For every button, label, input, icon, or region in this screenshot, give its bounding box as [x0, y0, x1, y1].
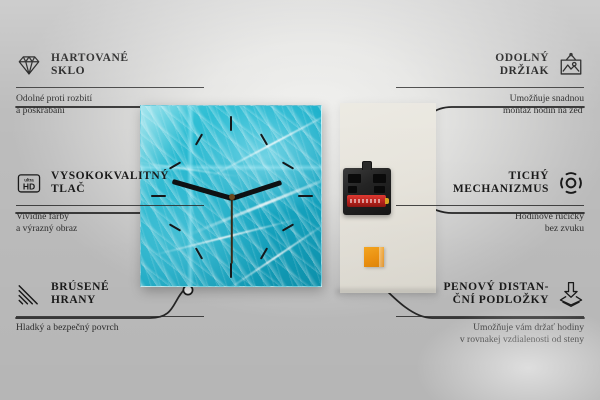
feature-desc: Umožňuje vám držať hodiny: [396, 322, 584, 334]
feature-desc: a poškrábání: [16, 105, 204, 117]
feature-title: TLAČ: [51, 183, 169, 197]
feature-desc: a výrazný obraz: [16, 223, 204, 235]
feature-ground-edges: BRÚSENÉ HRANY Hladký a bezpečný povrch: [16, 277, 204, 334]
gear-icon: [558, 170, 584, 196]
feature-title: SKLO: [51, 65, 129, 79]
mechanism-slot: [348, 186, 357, 193]
mechanism-slot: [348, 174, 361, 183]
feature-desc: montáž hodin na zeď: [396, 105, 584, 117]
feature-hd-print: ultra HD VYSOKOKVALITNÝ TLAČ Vividné far…: [16, 166, 204, 235]
feather-streak: [187, 170, 322, 236]
feature-desc: v rovnakej vzdialenosti od steny: [396, 334, 584, 346]
tick-5: [260, 247, 268, 259]
svg-text:HD: HD: [23, 182, 35, 192]
divider: [396, 87, 584, 88]
divider: [16, 316, 204, 317]
mechanism-shaft: [362, 161, 372, 170]
clock-mechanism: [343, 168, 391, 215]
feature-desc: Hladký a bezpečný povrch: [16, 322, 204, 334]
tick-7: [195, 247, 203, 259]
feature-title: ODOLNÝ: [495, 52, 549, 66]
ultra-hd-icon: ultra HD: [16, 170, 42, 196]
tick-4: [282, 223, 294, 231]
hanging-picture-frame-icon: [558, 52, 584, 78]
mechanism-slot: [374, 186, 385, 193]
diamond-icon: [16, 52, 42, 78]
tick-11: [195, 133, 203, 145]
feature-desc: Hodinové ručičky: [396, 211, 584, 223]
feature-title: BRÚSENÉ: [51, 281, 109, 295]
divider: [16, 87, 204, 88]
second-hand: [231, 198, 233, 264]
tick-1: [260, 133, 268, 145]
feature-desc: Vividné farby: [16, 211, 204, 223]
stacked-down-arrow-icon: [558, 281, 584, 307]
feature-title: DRŽIAK: [495, 65, 549, 79]
feature-title: HARTOVANÉ: [51, 52, 129, 66]
clock-center-pin: [229, 194, 235, 200]
feature-title: TICHÝ: [453, 170, 549, 184]
feather-streak: [222, 220, 322, 287]
divider: [396, 205, 584, 206]
hatched-edge-icon: [16, 281, 42, 307]
feature-desc: Odolné proti rozbití: [16, 93, 204, 105]
feature-silent-mechanism: TICHÝ MECHANIZMUS Hodinové ručičky bez z…: [396, 166, 584, 235]
divider: [16, 205, 204, 206]
infographic-canvas: HARTOVANÉ SKLO Odolné proti rozbití a po…: [0, 0, 600, 400]
tick-6: [230, 263, 232, 278]
mechanism-slot: [373, 174, 386, 183]
feature-desc: bez zvuku: [396, 223, 584, 235]
feature-foam-pads: PENOVÝ DISTAN- ČNÍ PODLOŽKY Umožňuje vám…: [396, 277, 584, 346]
feature-title: PENOVÝ DISTAN-: [443, 281, 549, 295]
feature-title: HRANY: [51, 294, 109, 308]
tick-3: [298, 195, 313, 197]
feature-holder: ODOLNÝ DRŽIAK Umožňuje snadnou montáž ho…: [396, 48, 584, 117]
battery: [347, 195, 386, 207]
feature-title: ČNÍ PODLOŽKY: [443, 294, 549, 308]
tick-12: [230, 116, 232, 131]
feature-tempered-glass: HARTOVANÉ SKLO Odolné proti rozbití a po…: [16, 48, 204, 117]
divider: [396, 316, 584, 317]
feature-desc: Umožňuje snadnou: [396, 93, 584, 105]
feature-title: MECHANIZMUS: [453, 183, 549, 197]
foam-spacer-pad: [364, 247, 384, 267]
feature-title: VYSOKOKVALITNÝ: [51, 170, 169, 184]
